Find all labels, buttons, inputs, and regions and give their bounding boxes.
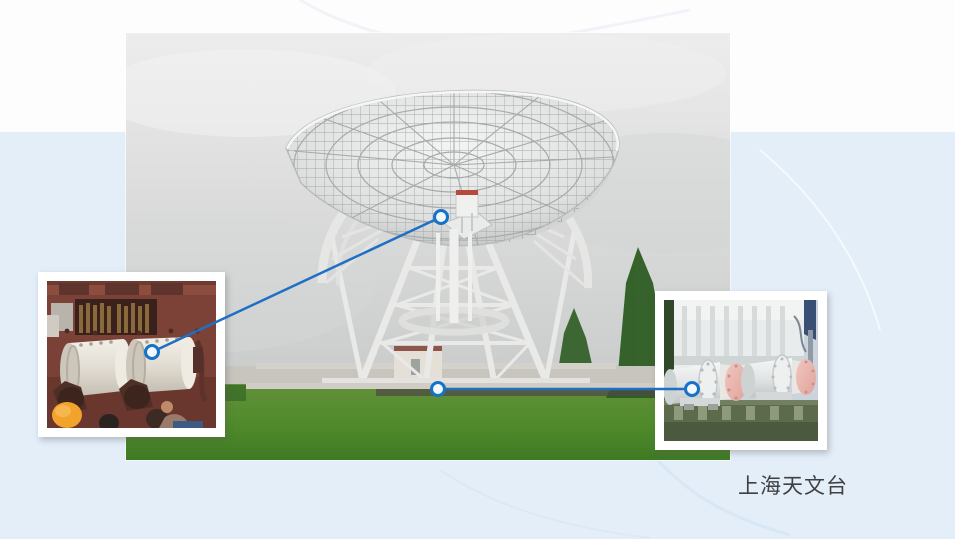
photo-caption: 上海天文台 [738, 470, 848, 500]
callout-left-gearbox[interactable] [38, 272, 225, 437]
callout-right-drive[interactable] [655, 291, 827, 450]
callout-left-image [47, 281, 216, 428]
callout-right-image [664, 300, 818, 441]
slide-canvas: 上海天文台 [0, 0, 955, 539]
azimuth-drive-artwork [664, 300, 818, 441]
gearbox-artwork [47, 281, 216, 428]
